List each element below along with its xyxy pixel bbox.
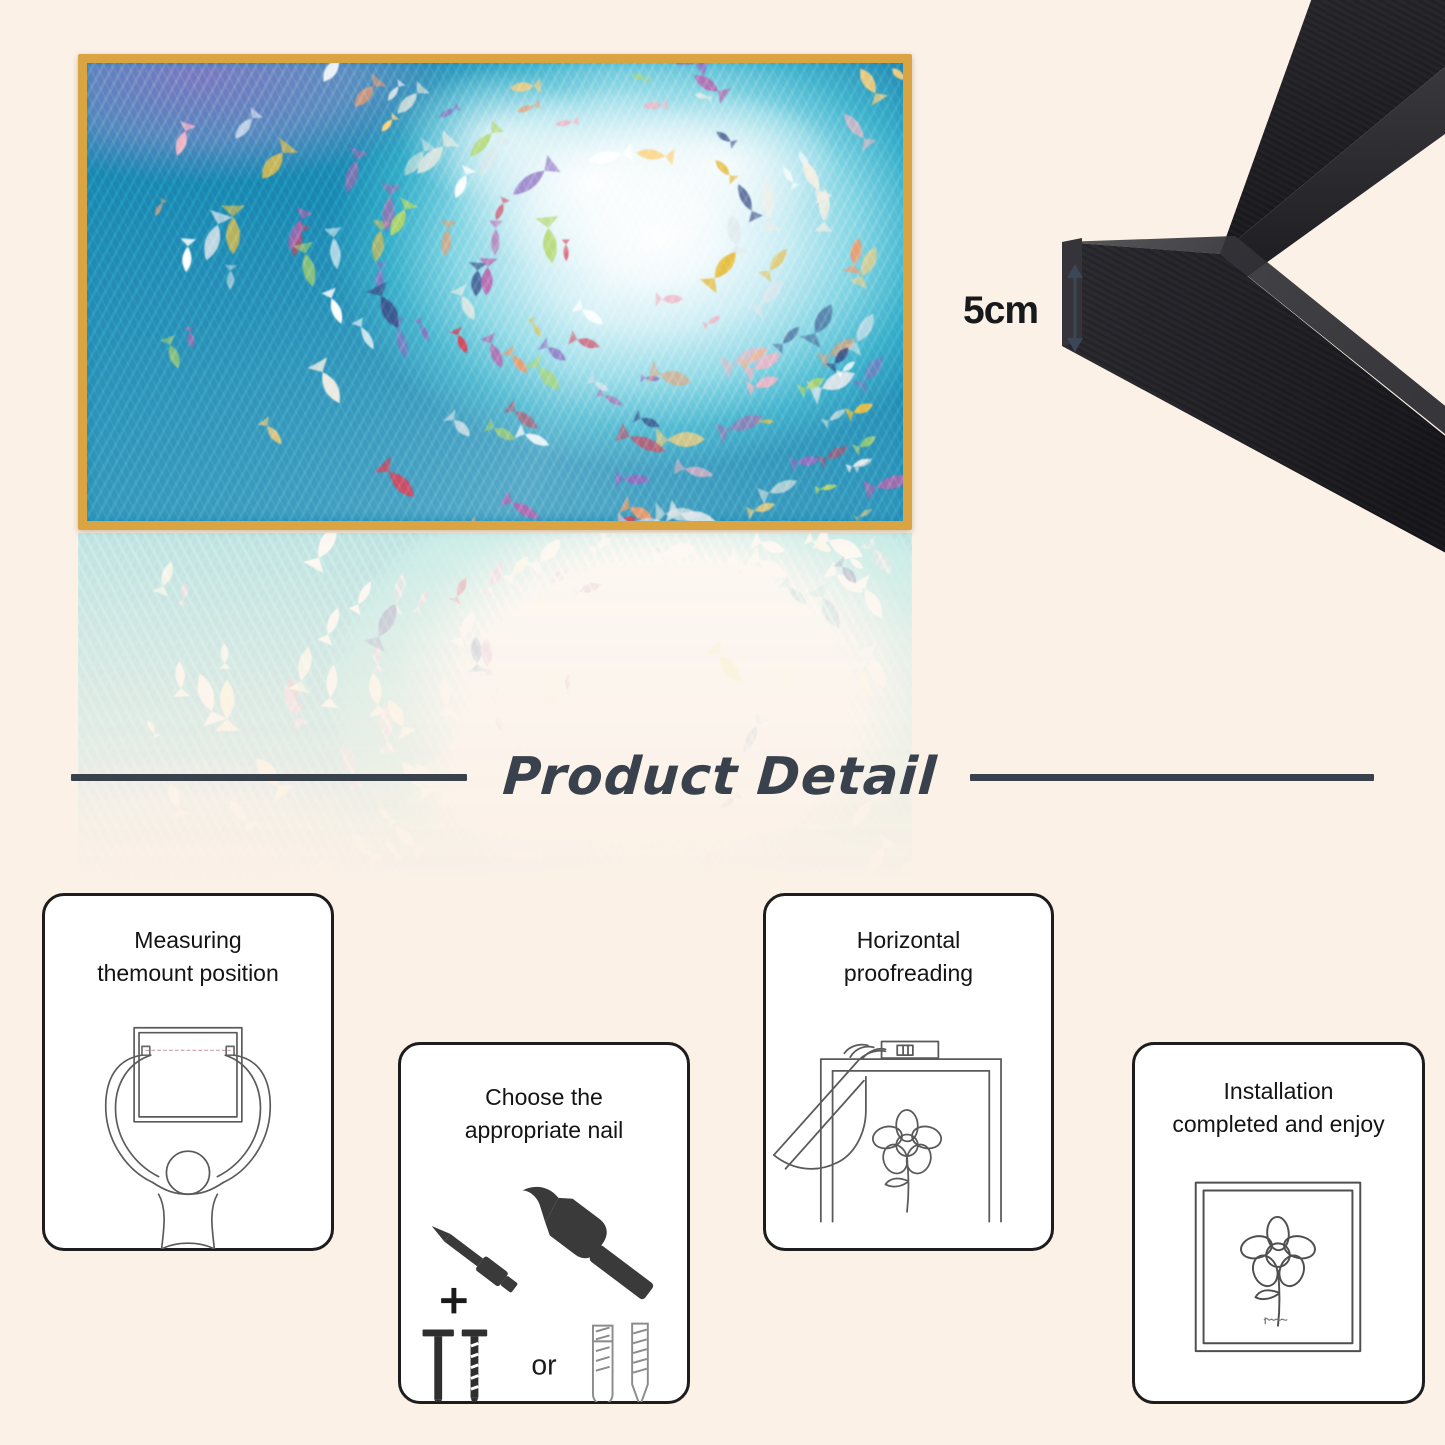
- card-title: Horizontal proofreading: [766, 924, 1051, 989]
- card-title: Installation completed and enjoy: [1135, 1075, 1422, 1140]
- frame-depth-label: 5cm: [963, 289, 1038, 333]
- hand-with-spirit-level-on-frame-icon: [766, 1016, 1051, 1249]
- hammer-and-nails-icon: or: [401, 1165, 687, 1402]
- card-title-line2: appropriate nail: [415, 1114, 673, 1147]
- plus-symbol: [441, 1288, 466, 1313]
- nail-spiral: [462, 1330, 487, 1402]
- card-title: Measuring themount position: [45, 924, 331, 989]
- reflection-texture: [78, 533, 912, 883]
- card-title-line1: Installation: [1149, 1075, 1408, 1108]
- card-installation-completed[interactable]: Installation completed and enjoy: [1132, 1042, 1425, 1404]
- artwork-reflection: [78, 533, 912, 883]
- card-title: Choose the appropriate nail: [401, 1081, 687, 1146]
- card-title-line2: proofreading: [780, 957, 1037, 990]
- impasto-texture: [87, 63, 903, 521]
- anchor-screw: [632, 1324, 648, 1402]
- card-title-line2: themount position: [59, 957, 317, 990]
- mounted-framed-flower-artwork-icon: [1135, 1165, 1422, 1402]
- card-measuring-mount-position[interactable]: Measuring themount position: [42, 893, 334, 1251]
- card-title-line1: Choose the: [415, 1081, 673, 1114]
- card-title-line1: Measuring: [59, 924, 317, 957]
- black-wood-frame-corner: [1040, 0, 1445, 566]
- artwork-canvas: [87, 63, 903, 521]
- title-rule-right: [970, 774, 1374, 781]
- card-choose-appropriate-nail[interactable]: Choose the appropriate nail: [398, 1042, 690, 1404]
- vertical-double-arrow-icon: [1060, 262, 1090, 354]
- card-horizontal-proofreading[interactable]: Horizontal proofreading: [763, 893, 1054, 1251]
- or-label: or: [531, 1350, 556, 1382]
- card-title-line2: completed and enjoy: [1149, 1108, 1408, 1141]
- card-title-line1: Horizontal: [780, 924, 1037, 957]
- title-rule-left: [71, 774, 467, 781]
- wall-anchor: [593, 1326, 613, 1402]
- page-title: Product Detail: [500, 747, 938, 807]
- nail-smooth: [423, 1330, 454, 1402]
- section-header: Product Detail: [0, 744, 1445, 810]
- product-detail-page: 5cm Product Detail Measuring themount po…: [0, 0, 1445, 1445]
- framed-artwork[interactable]: [78, 54, 912, 530]
- person-holding-frame-with-ruler-icon: [45, 1016, 331, 1249]
